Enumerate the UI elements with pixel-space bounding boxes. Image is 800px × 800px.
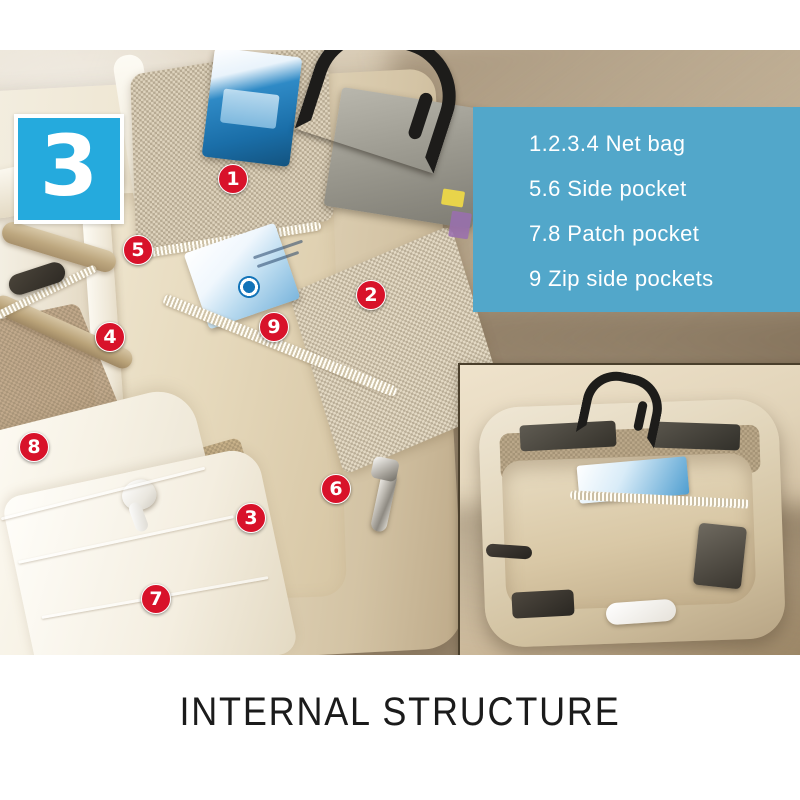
purple-tab-item xyxy=(448,211,472,240)
inset-dark-pocket-item xyxy=(511,589,574,618)
marker-6: 6 xyxy=(321,474,351,504)
marker-5: 5 xyxy=(123,235,153,265)
page-title: INTERNAL STRUCTURE xyxy=(40,685,760,739)
main-product-photo: 3 1.2.3.4 Net bag 5.6 Side pocket 7.8 Pa… xyxy=(0,50,800,655)
marker-4: 4 xyxy=(95,322,125,352)
step-number-label: 3 xyxy=(40,124,98,208)
inset-device-item-right xyxy=(652,421,741,450)
marker-2: 2 xyxy=(356,280,386,310)
blue-card-item xyxy=(202,50,303,167)
marker-1: 1 xyxy=(218,164,248,194)
marker-8: 8 xyxy=(19,432,49,462)
legend-line-side-pocket: 5.6 Side pocket xyxy=(529,166,800,211)
legend-line-patch-pocket: 7.8 Patch pocket xyxy=(529,211,800,256)
legend-line-net-bag: 1.2.3.4 Net bag xyxy=(529,121,800,166)
marker-9: 9 xyxy=(259,312,289,342)
marker-7: 7 xyxy=(141,584,171,614)
legend-line-zip-side-pockets: 9 Zip side pockets xyxy=(529,256,800,301)
marker-3: 3 xyxy=(236,503,266,533)
legend-panel: 1.2.3.4 Net bag 5.6 Side pocket 7.8 Patc… xyxy=(473,107,800,312)
step-number-badge: 3 xyxy=(14,114,124,224)
inset-phone-item xyxy=(693,523,747,590)
product-infographic: 3 1.2.3.4 Net bag 5.6 Side pocket 7.8 Pa… xyxy=(0,0,800,800)
yellow-tab-item xyxy=(441,188,465,207)
inset-photo-frame xyxy=(458,363,800,655)
